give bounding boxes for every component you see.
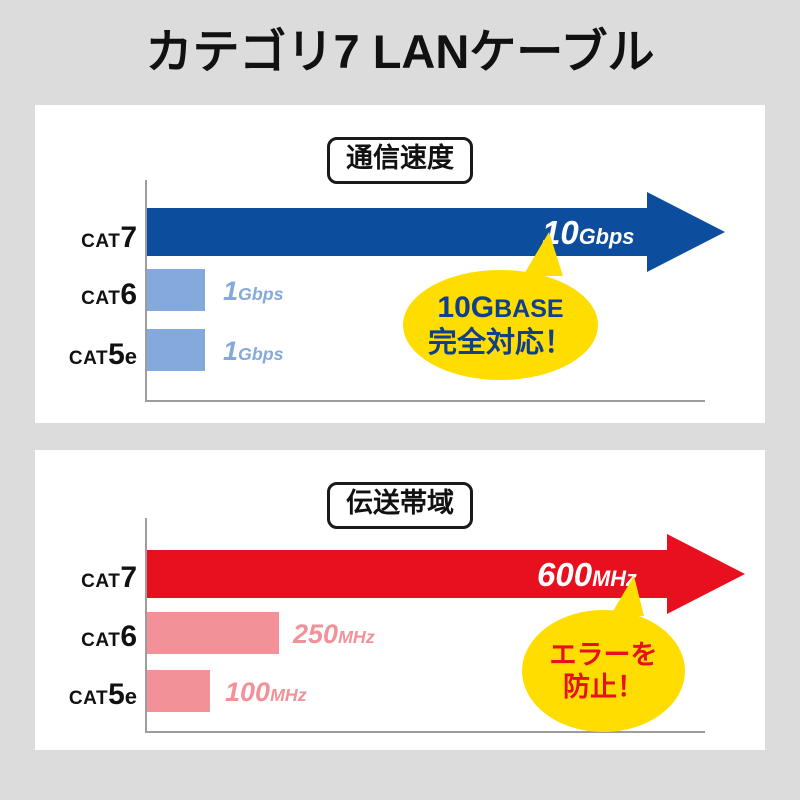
speed-callout-line1: 10GBASE xyxy=(437,291,563,325)
speed-callout: 10GBASE 完全対応！ xyxy=(403,270,598,380)
bandwidth-bar-cat5e xyxy=(147,670,210,712)
speed-cat5e-prefix: CAT xyxy=(69,348,108,369)
bandwidth-cat6-number: 6 xyxy=(120,620,137,653)
speed-row-label-cat6: CAT6 xyxy=(45,280,137,310)
bandwidth-callout-line2: 防止！ xyxy=(563,672,644,702)
speed-callout-bubble: 10GBASE 完全対応！ xyxy=(403,270,598,380)
speed-row-label-cat5e: CAT5e xyxy=(45,340,137,370)
speed-bar-cat6 xyxy=(147,269,205,311)
bandwidth-cat5e-suffix: e xyxy=(125,684,137,709)
speed-cat6-number: 6 xyxy=(120,278,137,311)
bandwidth-cat5e-number: 5 xyxy=(108,678,125,711)
bandwidth-cat5e-prefix: CAT xyxy=(69,688,108,709)
bandwidth-cat6-prefix: CAT xyxy=(81,630,120,651)
bandwidth-value-cat6-number: 250 xyxy=(293,619,338,649)
speed-bar-cat5e xyxy=(147,329,205,371)
bandwidth-bar-cat6 xyxy=(147,612,279,654)
speed-bar-cat7: 10Gbps xyxy=(147,208,647,256)
bandwidth-cat7-number: 7 xyxy=(120,561,137,594)
bandwidth-bar-cat7: 600MHz xyxy=(147,550,667,598)
speed-section-heading: 通信速度 xyxy=(327,137,473,184)
speed-chart-card: 通信速度 CAT7 10Gbps CAT6 1Gbps CAT5e 1Gbps … xyxy=(35,105,765,423)
speed-callout-line1-main: 10G xyxy=(437,291,494,324)
speed-value-cat5e: 1Gbps xyxy=(223,338,284,365)
speed-value-cat7-unit: Gbps xyxy=(579,224,635,249)
bandwidth-value-cat5e-unit: MHz xyxy=(270,685,307,705)
bandwidth-value-cat6: 250MHz xyxy=(293,621,375,648)
bandwidth-value-cat6-unit: MHz xyxy=(338,627,375,647)
bandwidth-callout-bubble: エラーを 防止！ xyxy=(522,610,685,732)
bandwidth-chart-card: 伝送帯域 CAT7 600MHz CAT6 250MHz CAT5e 100MH… xyxy=(35,450,765,750)
bandwidth-callout-line1: エラーを xyxy=(550,640,658,670)
bandwidth-bar-cat7-arrowhead xyxy=(667,534,745,614)
speed-value-cat5e-unit: Gbps xyxy=(238,344,284,364)
speed-callout-line1-small: BASE xyxy=(494,295,563,323)
speed-cat6-prefix: CAT xyxy=(81,288,120,309)
speed-callout-line2: 完全対応！ xyxy=(428,327,573,359)
speed-chart-x-axis xyxy=(145,400,705,402)
bandwidth-value-cat5e-number: 100 xyxy=(225,677,270,707)
speed-value-cat6-unit: Gbps xyxy=(238,284,284,304)
bandwidth-value-cat7-number: 600 xyxy=(537,556,592,593)
bandwidth-section-heading: 伝送帯域 xyxy=(327,482,473,529)
speed-cat5e-suffix: e xyxy=(125,344,137,369)
speed-callout-tail xyxy=(523,232,563,276)
speed-value-cat5e-number: 1 xyxy=(223,336,238,366)
bandwidth-value-cat5e: 100MHz xyxy=(225,679,307,706)
speed-row-label-cat7: CAT7 xyxy=(45,223,137,253)
speed-cat7-number: 7 xyxy=(120,221,137,254)
bandwidth-row-label-cat5e: CAT5e xyxy=(45,680,137,710)
bandwidth-callout: エラーを 防止！ xyxy=(522,610,685,732)
speed-value-cat6-number: 1 xyxy=(223,276,238,306)
speed-bar-cat7-arrowhead xyxy=(647,192,725,272)
speed-value-cat6: 1Gbps xyxy=(223,278,284,305)
speed-cat5e-number: 5 xyxy=(108,338,125,371)
speed-cat7-prefix: CAT xyxy=(81,231,120,252)
bandwidth-row-label-cat6: CAT6 xyxy=(45,622,137,652)
bandwidth-cat7-prefix: CAT xyxy=(81,571,120,592)
page-title: カテゴリ7 LANケーブル xyxy=(0,22,800,82)
bandwidth-row-label-cat7: CAT7 xyxy=(45,563,137,593)
